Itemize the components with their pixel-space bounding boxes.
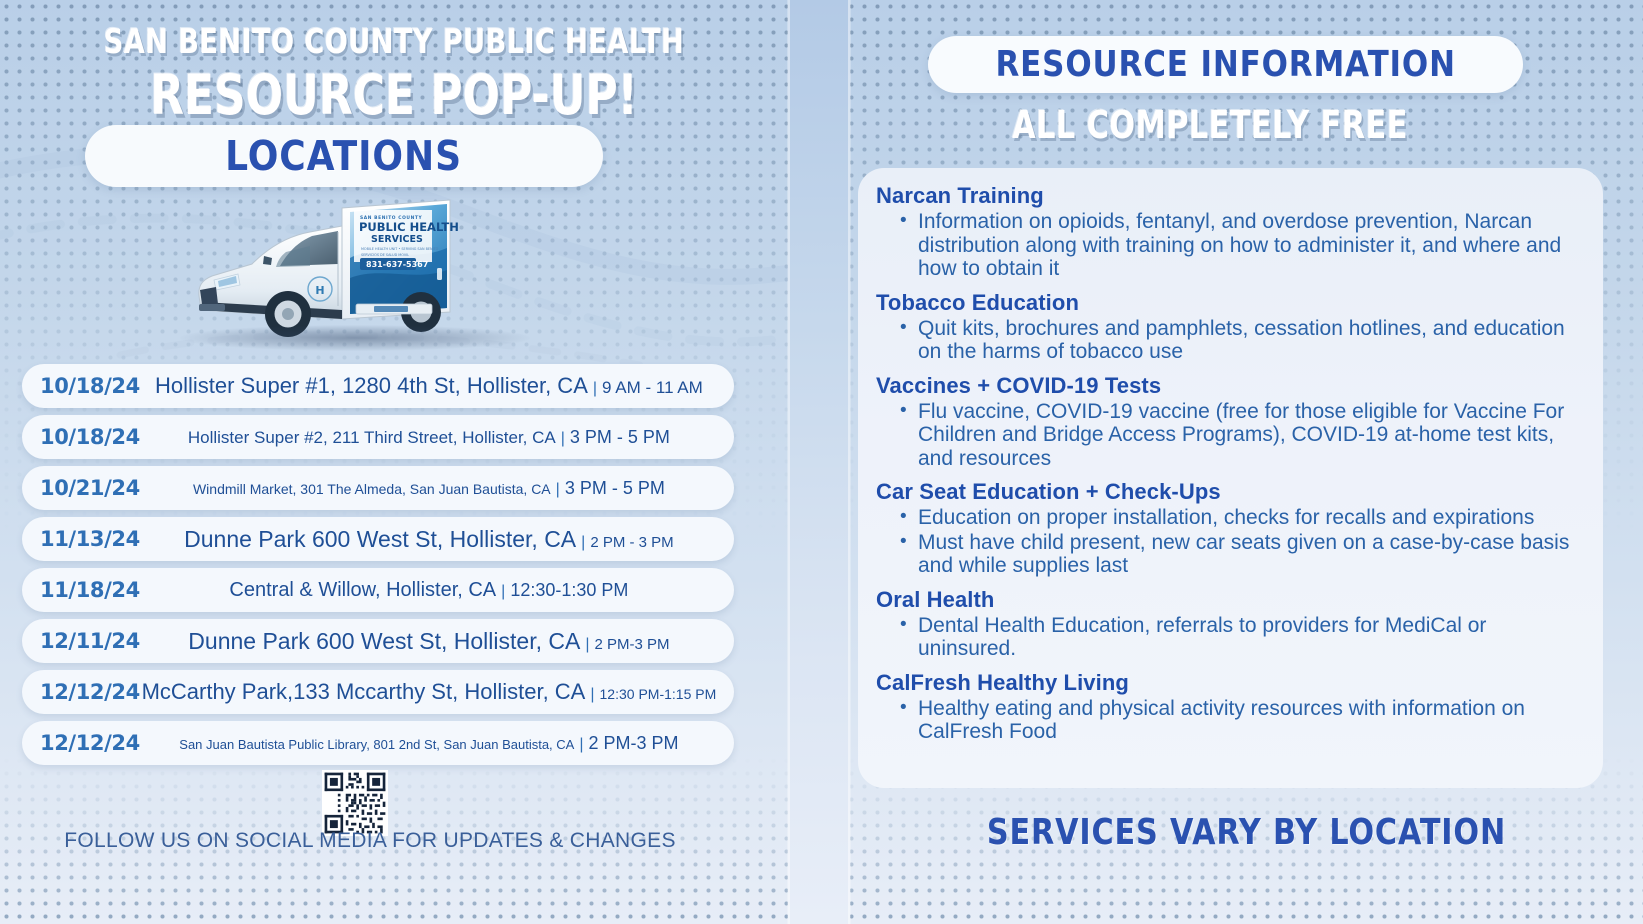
service-bullet: Must have child present, new car seats g… <box>898 531 1585 578</box>
service-bullet-list: Education on proper installation, checks… <box>898 506 1585 578</box>
left-panel: SAN BENITO COUNTY PUBLIC HEALTH RESOURCE… <box>0 0 788 924</box>
location-details: Hollister Super #1, 1280 4th St, Hollist… <box>140 373 718 399</box>
location-place: McCarthy Park,133 Mccarthy St, Hollister… <box>142 679 586 704</box>
location-time: 3 PM - 5 PM <box>565 478 665 498</box>
service-bullet: Flu vaccine, COVID-19 vaccine (free for … <box>898 400 1585 471</box>
service-block: Vaccines + COVID-19 TestsFlu vaccine, CO… <box>876 372 1585 471</box>
location-separator: | <box>496 583 510 600</box>
panel-gutter <box>788 0 850 924</box>
resource-information-banner: RESOURCE INFORMATION <box>928 36 1523 93</box>
service-block: Oral HealthDental Health Education, refe… <box>876 586 1585 661</box>
service-title: CalFresh Healthy Living <box>876 669 1585 697</box>
service-bullet-list: Dental Health Education, referrals to pr… <box>898 614 1585 661</box>
location-date: 12/12/24 <box>40 680 140 704</box>
locations-banner: LOCATIONS <box>85 125 603 187</box>
svg-text:H: H <box>315 284 324 297</box>
location-time: 9 AM - 11 AM <box>602 378 703 397</box>
service-title: Car Seat Education + Check-Ups <box>876 478 1585 506</box>
services-vary-by-location-text: SERVICES VARY BY LOCATION <box>913 812 1579 853</box>
location-separator: | <box>580 636 594 653</box>
public-health-van-image: SAN BENITO COUNTY PUBLIC HEALTH SERVICES… <box>160 186 560 351</box>
location-place: Dunne Park 600 West St, Hollister, CA <box>184 526 576 552</box>
location-place: San Juan Bautista Public Library, 801 2n… <box>179 737 574 752</box>
service-bullet-list: Quit kits, brochures and pamphlets, cess… <box>898 317 1585 364</box>
location-separator: | <box>585 686 599 703</box>
poster-root: SAN BENITO COUNTY PUBLIC HEALTH RESOURCE… <box>0 0 1643 924</box>
location-date: 12/12/24 <box>40 731 140 755</box>
location-separator: | <box>574 736 588 753</box>
service-title: Narcan Training <box>876 182 1585 210</box>
service-bullet-list: Information on opioids, fentanyl, and ov… <box>898 210 1585 281</box>
service-bullet-list: Healthy eating and physical activity res… <box>898 697 1585 744</box>
service-bullet: Quit kits, brochures and pamphlets, cess… <box>898 317 1585 364</box>
resource-information-label: RESOURCE INFORMATION <box>995 44 1455 85</box>
svg-text:SERVICIOS DE SALUD MOVIL: SERVICIOS DE SALUD MOVIL <box>361 253 409 257</box>
location-details: McCarthy Park,133 Mccarthy St, Hollister… <box>140 679 718 705</box>
location-date: 11/18/24 <box>40 578 140 602</box>
location-row: 11/18/24Central & Willow, Hollister, CA|… <box>22 568 734 612</box>
location-date: 10/21/24 <box>40 476 140 500</box>
location-place: Hollister Super #2, 211 Third Street, Ho… <box>188 428 556 447</box>
locations-banner-label: LOCATIONS <box>226 132 463 180</box>
svg-text:MOBILE HEALTH UNIT • SERVING S: MOBILE HEALTH UNIT • SERVING SAN BENITO <box>361 247 439 251</box>
location-separator: | <box>556 430 570 447</box>
svg-text:PUBLIC HEALTH: PUBLIC HEALTH <box>359 220 459 234</box>
location-row: 12/12/24McCarthy Park,133 Mccarthy St, H… <box>22 670 734 714</box>
poster-header-line1: SAN BENITO COUNTY PUBLIC HEALTH <box>79 22 709 62</box>
location-row: 10/18/24Hollister Super #1, 1280 4th St,… <box>22 364 734 408</box>
location-place: Central & Willow, Hollister, CA <box>229 579 496 601</box>
svg-text:831-637-5367: 831-637-5367 <box>366 260 428 269</box>
service-block: CalFresh Healthy LivingHealthy eating an… <box>876 669 1585 744</box>
service-bullet: Information on opioids, fentanyl, and ov… <box>898 210 1585 281</box>
location-row: 11/13/24Dunne Park 600 West St, Holliste… <box>22 517 734 561</box>
location-place: Windmill Market, 301 The Almeda, San Jua… <box>193 481 551 497</box>
location-time: 12:30-1:30 PM <box>510 580 628 600</box>
location-time: 2 PM-3 PM <box>589 733 679 753</box>
service-block: Narcan TrainingInformation on opioids, f… <box>876 182 1585 281</box>
service-bullet: Healthy eating and physical activity res… <box>898 697 1585 744</box>
location-row: 12/11/24Dunne Park 600 West St, Holliste… <box>22 619 734 663</box>
location-details: Dunne Park 600 West St, Hollister, CA|2 … <box>140 628 718 655</box>
service-block: Tobacco EducationQuit kits, brochures an… <box>876 289 1585 364</box>
service-bullet: Dental Health Education, referrals to pr… <box>898 614 1585 661</box>
location-date: 12/11/24 <box>40 629 140 653</box>
service-title: Vaccines + COVID-19 Tests <box>876 372 1585 400</box>
poster-header-line2: RESOURCE POP-UP! <box>79 63 709 127</box>
location-time: 12:30 PM-1:15 PM <box>600 686 717 702</box>
location-row: 10/21/24Windmill Market, 301 The Almeda,… <box>22 466 734 510</box>
van-shadow <box>180 325 530 351</box>
svg-text:SERVICES: SERVICES <box>371 234 423 245</box>
location-separator: | <box>576 534 590 551</box>
location-date: 11/13/24 <box>40 527 140 551</box>
services-card: Narcan TrainingInformation on opioids, f… <box>858 168 1603 788</box>
location-details: Hollister Super #2, 211 Third Street, Ho… <box>140 427 718 448</box>
location-place: Hollister Super #1, 1280 4th St, Hollist… <box>155 373 588 398</box>
follow-us-text: FOLLOW US ON SOCIAL MEDIA FOR UPDATES & … <box>0 826 740 856</box>
location-time: 2 PM-3 PM <box>594 636 669 653</box>
location-details: Dunne Park 600 West St, Hollister, CA|2 … <box>140 526 718 553</box>
location-separator: | <box>551 481 565 498</box>
service-bullet-list: Flu vaccine, COVID-19 vaccine (free for … <box>898 400 1585 471</box>
location-details: Windmill Market, 301 The Almeda, San Jua… <box>140 478 718 499</box>
service-block: Car Seat Education + Check-UpsEducation … <box>876 478 1585 578</box>
right-panel: RESOURCE INFORMATION ALL COMPLETELY FREE… <box>850 0 1643 924</box>
location-date: 10/18/24 <box>40 425 140 449</box>
location-time: 2 PM - 3 PM <box>590 534 673 551</box>
location-time: 3 PM - 5 PM <box>570 427 670 447</box>
location-place: Dunne Park 600 West St, Hollister, CA <box>188 628 580 654</box>
location-separator: | <box>588 380 602 397</box>
location-row: 12/12/24San Juan Bautista Public Library… <box>22 721 734 765</box>
service-bullet: Education on proper installation, checks… <box>898 506 1585 530</box>
all-completely-free-text: ALL COMPLETELY FREE <box>922 103 1498 147</box>
service-title: Tobacco Education <box>876 289 1585 317</box>
location-details: Central & Willow, Hollister, CA|12:30-1:… <box>140 579 718 602</box>
location-details: San Juan Bautista Public Library, 801 2n… <box>140 733 718 754</box>
location-date: 10/18/24 <box>40 374 140 398</box>
locations-list: 10/18/24Hollister Super #1, 1280 4th St,… <box>22 364 734 772</box>
service-title: Oral Health <box>876 586 1585 614</box>
location-row: 10/18/24Hollister Super #2, 211 Third St… <box>22 415 734 459</box>
gutter-line-left <box>788 0 790 924</box>
